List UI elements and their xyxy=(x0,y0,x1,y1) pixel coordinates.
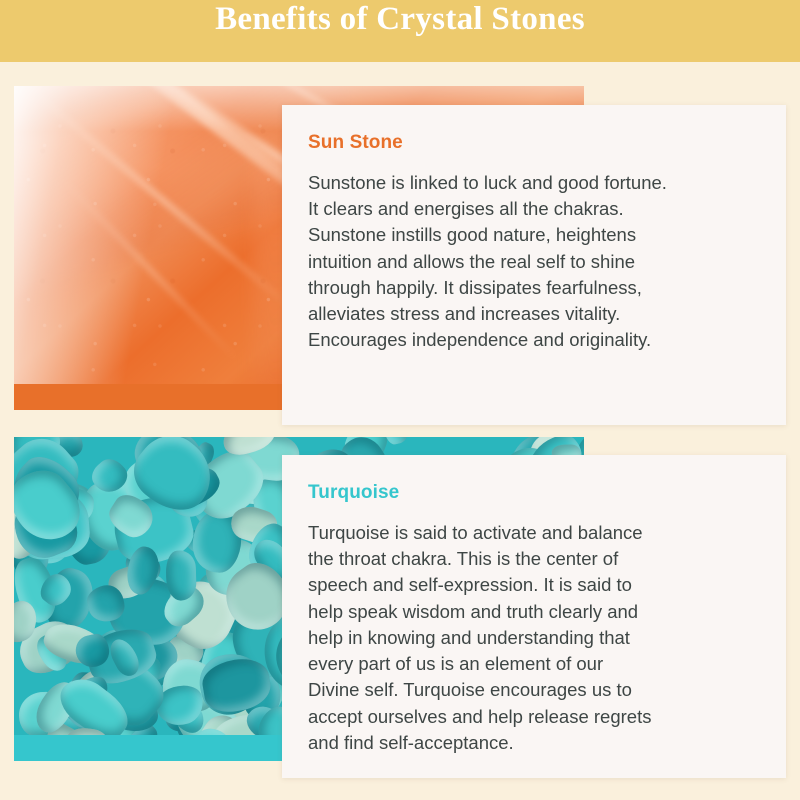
card-inner: Sun Stone Sunstone is linked to luck and… xyxy=(282,105,786,354)
page-title: Benefits of Crystal Stones xyxy=(215,3,585,36)
page-header: Benefits of Crystal Stones xyxy=(0,0,800,62)
card-inner: Turquoise Turquoise is said to activate … xyxy=(282,455,786,756)
card-turquoise: Turquoise Turquoise is said to activate … xyxy=(282,455,786,778)
card-title-sunstone: Sun Stone xyxy=(308,133,758,154)
turquoise-pebble xyxy=(165,550,196,601)
page-body: Sun Stone Sunstone is linked to luck and… xyxy=(0,62,800,800)
entry-sunstone: Sun Stone Sunstone is linked to luck and… xyxy=(0,62,800,412)
card-text-turquoise: Turquoise is said to activate and balanc… xyxy=(308,520,758,756)
card-title-turquoise: Turquoise xyxy=(308,483,758,504)
card-sunstone: Sun Stone Sunstone is linked to luck and… xyxy=(282,105,786,425)
entry-turquoise: Turquoise Turquoise is said to activate … xyxy=(0,413,800,753)
card-text-sunstone: Sunstone is linked to luck and good fort… xyxy=(308,170,758,354)
